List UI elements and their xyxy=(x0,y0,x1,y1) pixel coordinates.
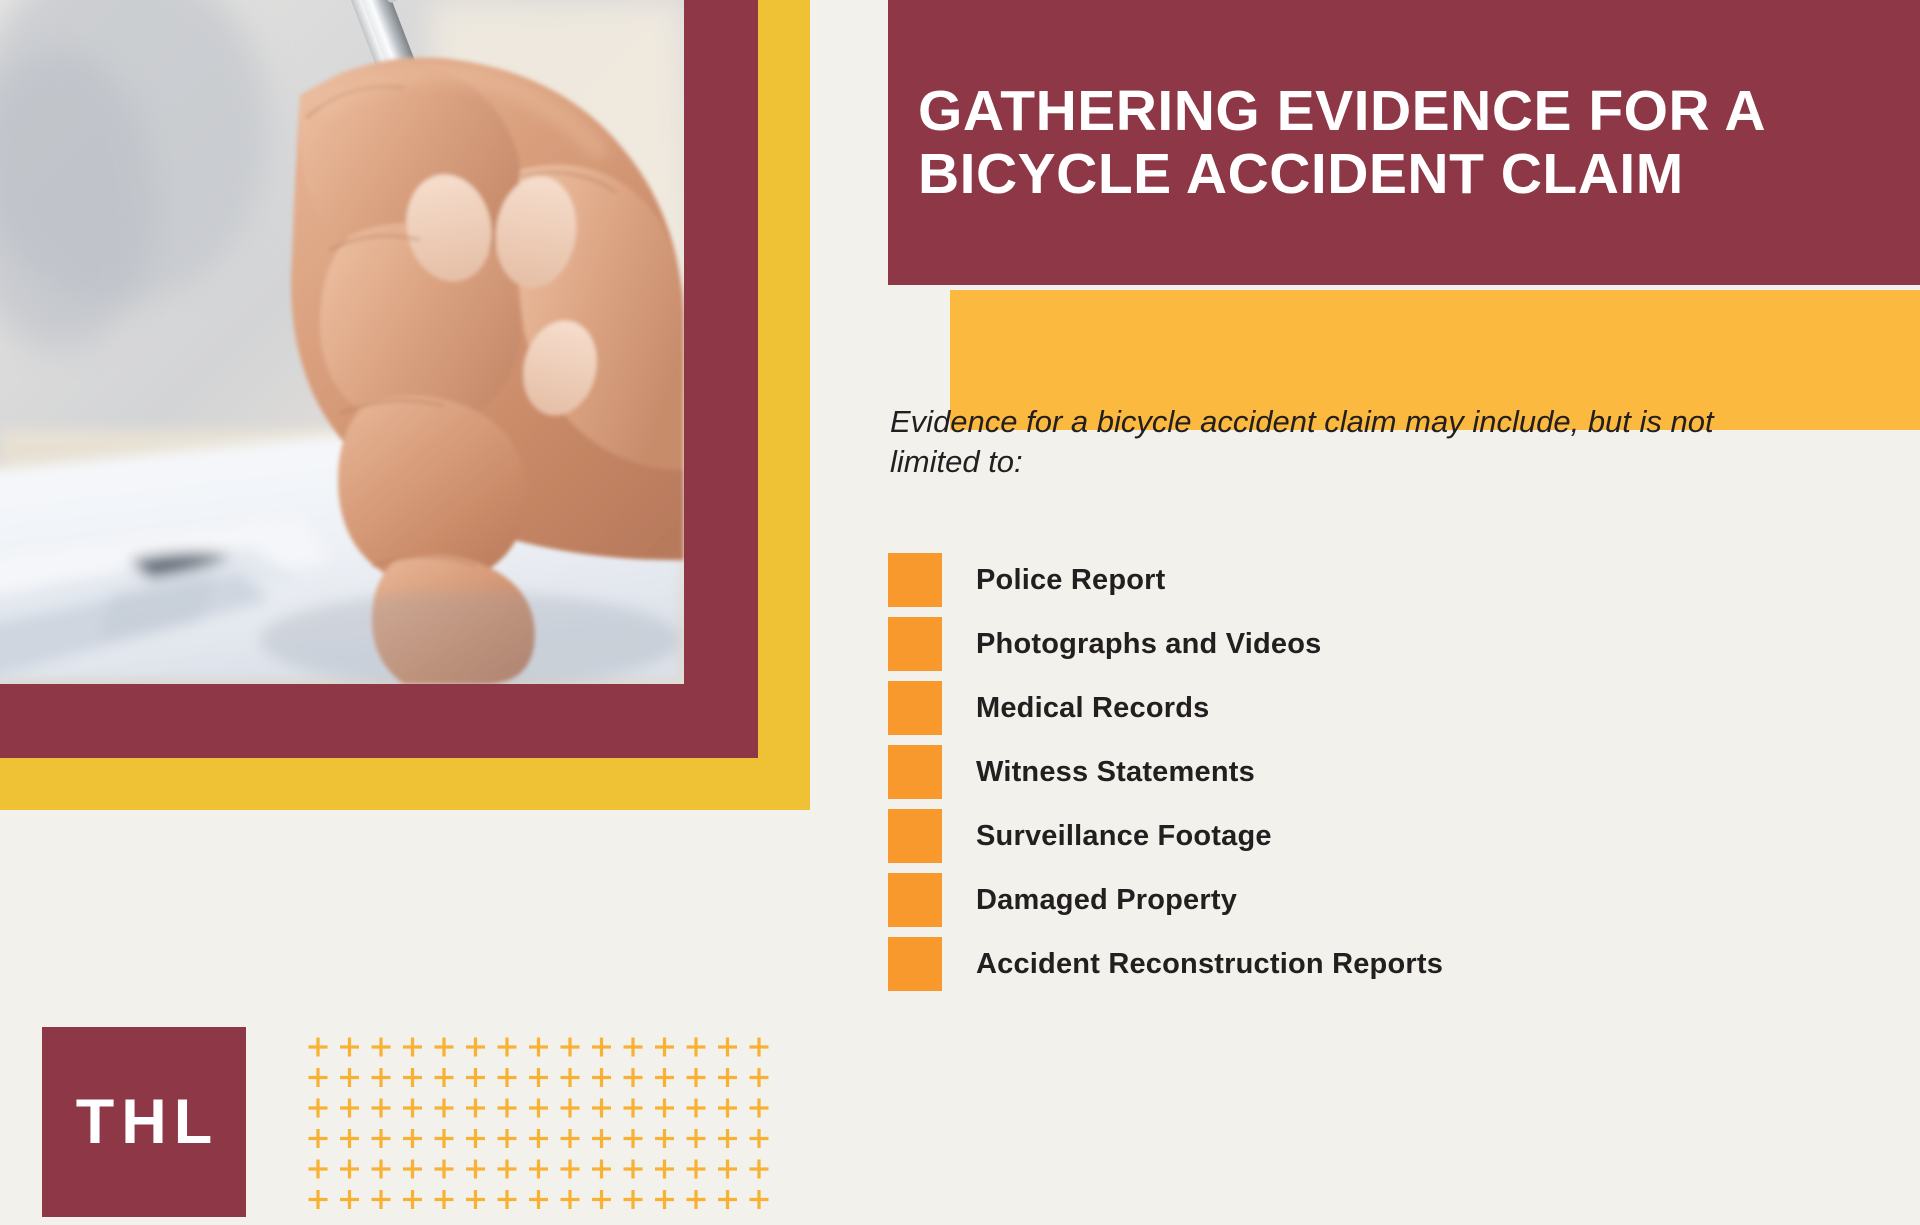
list-item-label: Medical Records xyxy=(976,692,1209,725)
list-item-label: Damaged Property xyxy=(976,884,1237,917)
bullet-square-icon xyxy=(888,745,942,799)
logo-text: THL xyxy=(69,1086,219,1158)
bullet-square-icon xyxy=(888,809,942,863)
bullet-square-icon xyxy=(888,681,942,735)
list-item-label: Police Report xyxy=(976,564,1166,597)
bullet-square-icon xyxy=(888,553,942,607)
list-item: Medical Records xyxy=(888,676,1888,740)
list-item: Accident Reconstruction Reports xyxy=(888,932,1888,996)
bullet-square-icon xyxy=(888,873,942,927)
list-item-label: Accident Reconstruction Reports xyxy=(976,948,1443,981)
list-item-label: Surveillance Footage xyxy=(976,820,1272,853)
list-item: Surveillance Footage xyxy=(888,804,1888,868)
hero-photo xyxy=(0,0,684,684)
evidence-list: Police Report Photographs and Videos Med… xyxy=(888,548,1888,996)
list-item: Damaged Property xyxy=(888,868,1888,932)
bullet-square-icon xyxy=(888,617,942,671)
subtitle: Evidence for a bicycle accident claim ma… xyxy=(890,402,1780,483)
page-title: Gathering Evidence for a Bicycle Acciden… xyxy=(888,80,1920,205)
list-item: Photographs and Videos xyxy=(888,612,1888,676)
infographic-canvas: Gathering Evidence for a Bicycle Acciden… xyxy=(0,0,1920,1080)
list-item: Witness Statements xyxy=(888,740,1888,804)
list-item: Police Report xyxy=(888,548,1888,612)
thl-logo: THL xyxy=(42,1027,246,1217)
hand-writing-photo-illustration xyxy=(0,0,684,684)
list-item-label: Photographs and Videos xyxy=(976,628,1321,661)
title-banner: Gathering Evidence for a Bicycle Acciden… xyxy=(888,0,1920,285)
bullet-square-icon xyxy=(888,937,942,991)
plus-grid-decoration xyxy=(308,1035,772,1225)
list-item-label: Witness Statements xyxy=(976,756,1255,789)
